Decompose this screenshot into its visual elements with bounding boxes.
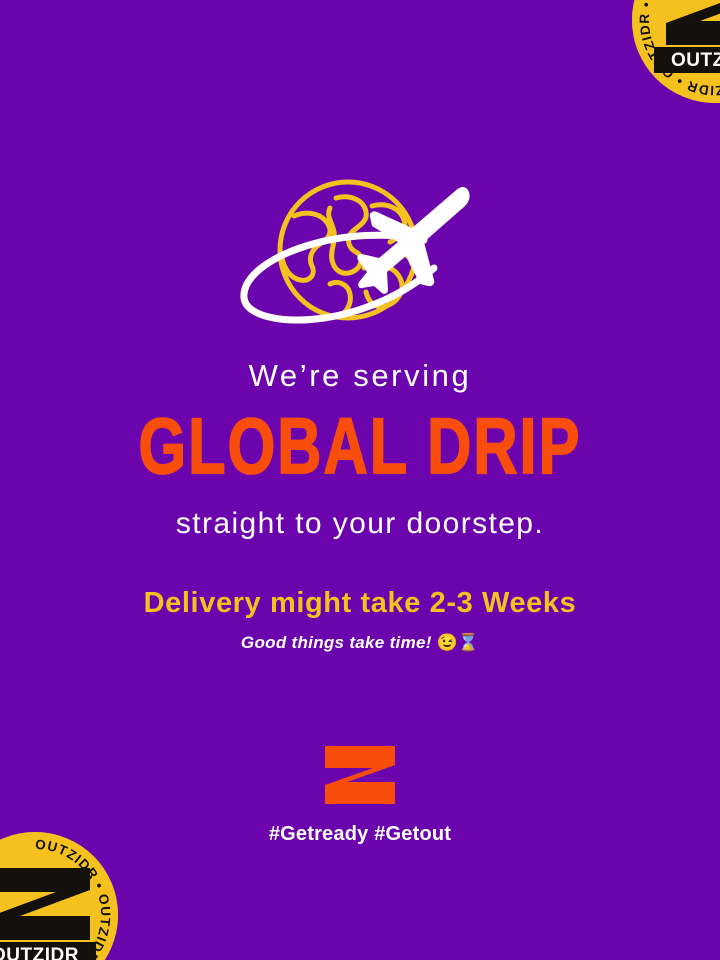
subhead-text: straight to your doorstep. xyxy=(0,509,720,539)
globe-airplane-illustration xyxy=(238,172,484,342)
outzidr-stamp-bottom-left: OUTZIDR • OUTZIDR • OUTZIDR • OUTZIDR • … xyxy=(0,832,118,960)
outzidr-stamp-top-right: OUTZIDR • OUTZIDR • OUTZIDR • OUTZIDR • … xyxy=(632,0,720,103)
reassurance-note: Good things take time! 😉⌛ xyxy=(0,634,720,651)
badge-inner-wordmark-top-right: OUTZIDR xyxy=(671,50,720,71)
reassurance-text: Good things take time! xyxy=(241,633,432,652)
promo-poster: We’re serving GLOBAL DRIP straight to yo… xyxy=(0,0,720,960)
wink-hourglass-emoji: 😉⌛ xyxy=(437,633,479,652)
badge-inner-wordmark-bottom-left: OUTZIDR xyxy=(0,945,79,960)
footer-brand-block: #Getready #Getout xyxy=(0,744,720,844)
outzidr-z-logo-icon xyxy=(321,744,399,806)
globe-icon xyxy=(238,172,484,342)
page-title: GLOBAL DRIP xyxy=(0,407,720,486)
delivery-note: Delivery might take 2-3 Weeks xyxy=(0,589,720,618)
poster-copy-block: We’re serving GLOBAL DRIP straight to yo… xyxy=(0,360,720,651)
eyebrow-text: We’re serving xyxy=(0,360,720,391)
